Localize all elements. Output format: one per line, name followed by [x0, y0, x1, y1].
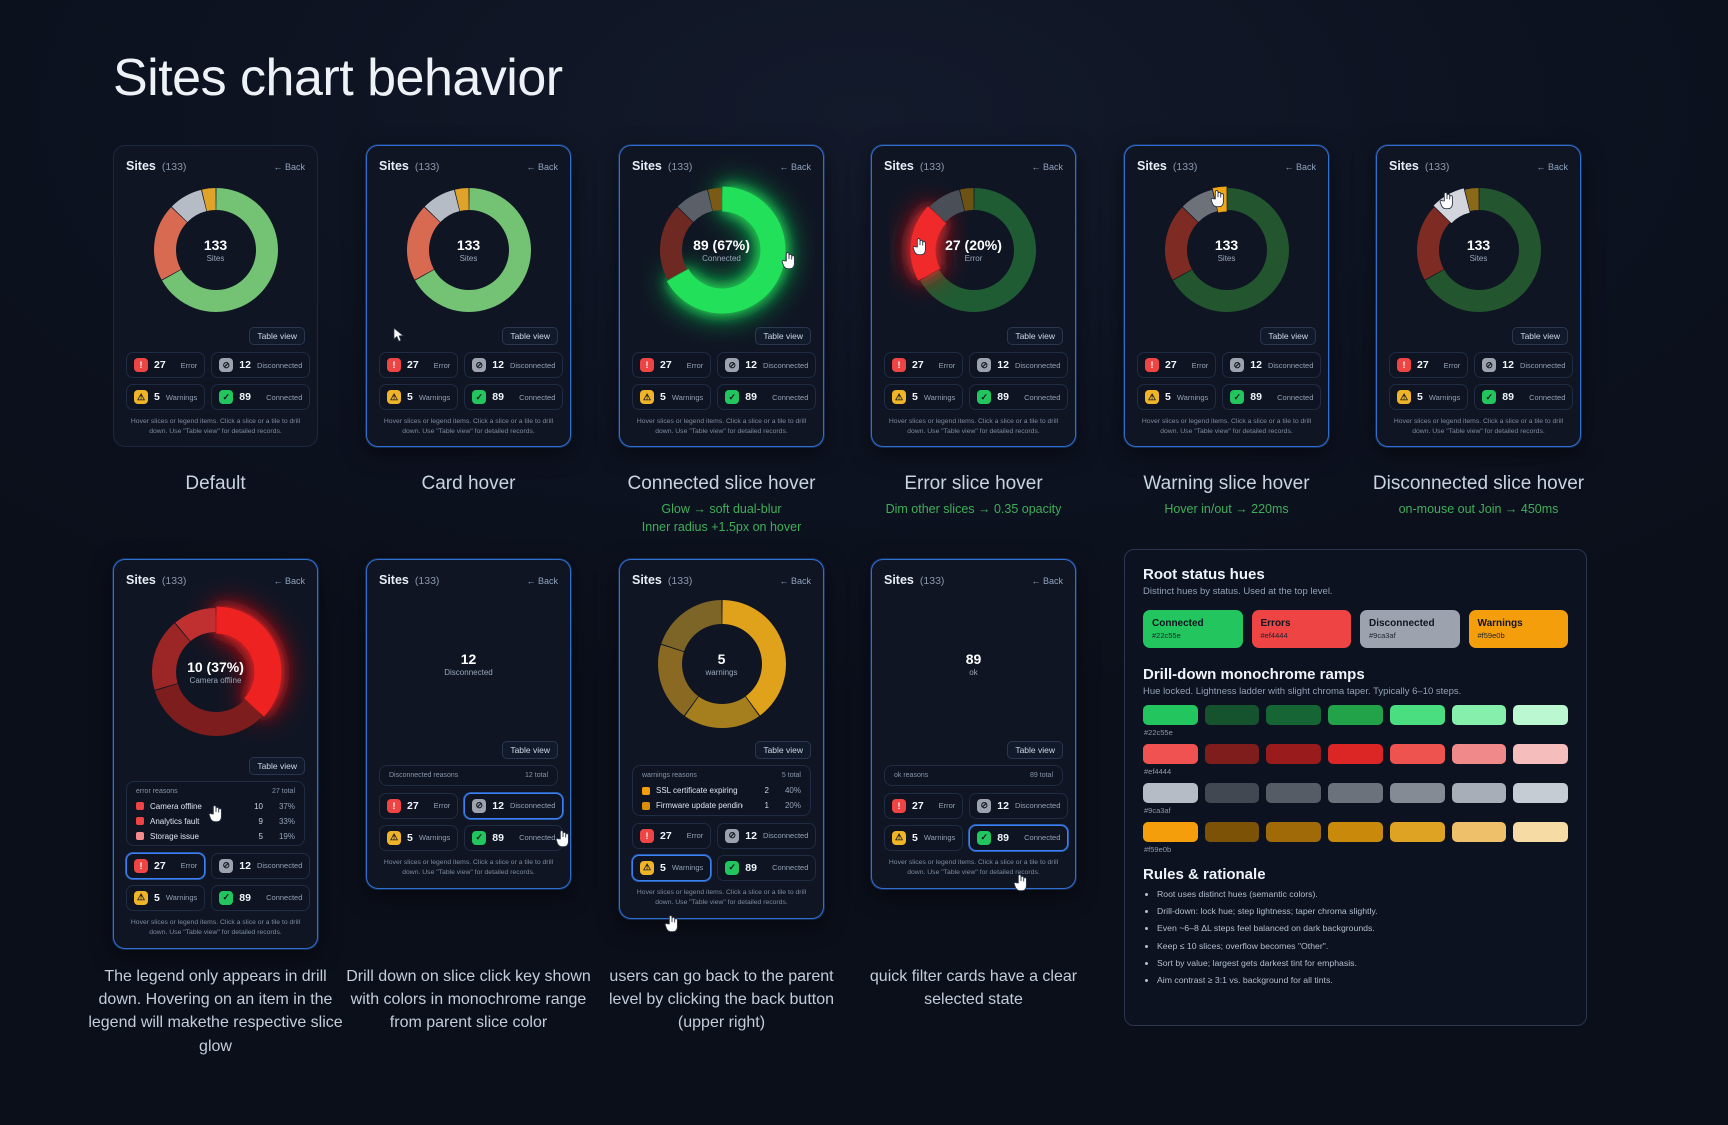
quick-filter-tile-warnings[interactable]: ⚠ 5 Warnings — [884, 384, 963, 410]
ramp-step — [1390, 744, 1445, 764]
donut-svg-wrap[interactable]: 133 Sites — [1152, 175, 1302, 325]
card-header: Sites(133) ← Back — [1137, 157, 1316, 175]
tile-count: 89 — [997, 391, 1009, 403]
drilldown-caption-error-drilldown: The legend only appears in drill down. H… — [88, 965, 343, 1058]
rule-item: Even ~6–8 ΔL steps feel balanced on dark… — [1157, 922, 1568, 934]
table-view-button[interactable]: Table view — [502, 741, 558, 759]
quick-filter-tile-warnings[interactable]: ⚠ 5 Warnings — [884, 825, 963, 851]
table-view-button[interactable]: Table view — [1007, 327, 1063, 345]
donut-svg-wrap[interactable]: 12 Disconnected — [394, 589, 544, 739]
legend-item[interactable]: Network issue 12 100% — [386, 783, 551, 786]
legend-item[interactable]: Normal 89 100% — [891, 783, 1056, 786]
quick-filter-tile-warnings[interactable]: ⚠ 5 Warnings — [126, 384, 205, 410]
warning-icon: ⚠ — [134, 390, 148, 404]
tile-label: Disconnected — [257, 861, 302, 870]
card-caption-default: Default — [73, 472, 358, 496]
tile-label: Warnings — [166, 393, 197, 402]
caption-text: Drill down on slice click key shown with… — [346, 968, 591, 1031]
quick-filter-tiles: ! 27 Error ⊘ 12 Disconnected ⚠ 5 Warning… — [632, 352, 811, 410]
quick-filter-tile-warnings[interactable]: ⚠ 5 Warnings — [126, 885, 205, 911]
donut-svg-wrap[interactable]: 133 Sites — [141, 175, 291, 325]
back-button[interactable]: ← Back — [273, 162, 305, 172]
tile-count: 12 — [492, 359, 504, 371]
tile-count: 12 — [745, 359, 757, 371]
tile-count: 89 — [745, 391, 757, 403]
card-title-group: Sites(133) — [126, 157, 186, 175]
ramp-step — [1390, 822, 1445, 842]
quick-filter-tile-warnings[interactable]: ⚠ 5 Warnings — [1389, 384, 1468, 410]
caption-text: Warning slice hover — [1143, 473, 1309, 494]
back-button[interactable]: ← Back — [779, 162, 811, 172]
connected-icon: ✓ — [977, 831, 991, 845]
card-title: Sites — [379, 573, 409, 587]
drilldown-caption-ok-drilldown: quick filter cards have a clear selected… — [846, 965, 1101, 1011]
tile-label: Warnings — [1177, 393, 1208, 402]
quick-filter-tile-disconnected[interactable]: ⊘ 12 Disconnected — [969, 793, 1068, 819]
tile-count: 12 — [997, 359, 1009, 371]
tile-count: 89 — [492, 391, 504, 403]
tile-label: Disconnected — [1520, 361, 1565, 370]
ramp-row — [1143, 705, 1568, 725]
table-view-button[interactable]: Table view — [755, 741, 811, 759]
legend-name: Storage issue — [150, 832, 237, 841]
legend-item[interactable]: Camera offline 10 37% — [133, 799, 298, 814]
tile-label: Warnings — [924, 833, 955, 842]
quick-filter-tile-disconnected[interactable]: ⊘ 12 Disconnected — [1474, 352, 1573, 378]
card-hint: Hover slices or legend items. Click a sl… — [1389, 417, 1568, 437]
tile-label: Warnings — [419, 393, 450, 402]
quick-filter-tile-connected[interactable]: ✓ 89 Connected — [211, 885, 310, 911]
tile-count: 5 — [407, 391, 413, 403]
quick-filter-tile-disconnected[interactable]: ⊘ 12 Disconnected — [717, 352, 816, 378]
connected-icon: ✓ — [1230, 390, 1244, 404]
table-view-row: Table view — [379, 741, 558, 759]
legend-swatch — [136, 832, 144, 840]
card-caption-note: on-mouse out Join → 450ms — [1336, 500, 1621, 518]
quick-filter-tile-connected[interactable]: ✓ 89 Connected — [717, 384, 816, 410]
tile-count: 27 — [154, 860, 166, 872]
caption-text: users can go back to the parent level by… — [609, 968, 834, 1031]
back-button[interactable]: ← Back — [1031, 576, 1063, 586]
card-hint: Hover slices or legend items. Click a sl… — [884, 858, 1063, 878]
tile-label: Disconnected — [1015, 361, 1060, 370]
ramp-step — [1328, 744, 1383, 764]
ramp-step — [1143, 744, 1198, 764]
tile-count: 27 — [407, 359, 419, 371]
donut-chart[interactable]: 133 Sites — [1389, 175, 1568, 325]
card-title-group: Sites(133) — [1389, 157, 1449, 175]
sites-card-ok-drilldown[interactable]: Sites(133) ← Back 89 ok Table view ok re… — [871, 559, 1076, 889]
card-title: Sites — [379, 159, 409, 173]
card-hint: Hover slices or legend items. Click a sl… — [884, 417, 1063, 437]
connected-icon: ✓ — [725, 390, 739, 404]
tile-count: 5 — [407, 832, 413, 844]
legend-item[interactable]: SSL certificate expiring 2 40% — [639, 783, 804, 798]
legend-percent: 33% — [269, 817, 295, 826]
error-icon: ! — [134, 859, 148, 873]
quick-filter-tiles: ! 27 Error ⊘ 12 Disconnected ⚠ 5 Warning… — [1389, 352, 1568, 410]
legend-title: error reasons — [136, 788, 178, 795]
legend-percent: 40% — [775, 786, 801, 795]
donut-svg-wrap[interactable]: 133 Sites — [394, 175, 544, 325]
tile-count: 27 — [912, 359, 924, 371]
tile-count: 27 — [154, 359, 166, 371]
root-hues-sub: Distinct hues by status. Used at the top… — [1143, 586, 1568, 597]
connected-icon: ✓ — [977, 390, 991, 404]
quick-filter-tile-error[interactable]: ! 27 Error — [126, 352, 205, 378]
tile-label: Connected — [772, 863, 808, 872]
drilldown-legend: warnings reasons 5 total SSL certificate… — [632, 765, 811, 816]
donut-chart[interactable]: 133 Sites — [126, 175, 305, 325]
legend-swatch — [136, 817, 144, 825]
legend-header: Disconnected reasons 12 total — [386, 771, 551, 783]
tile-count: 27 — [912, 800, 924, 812]
sites-card-default[interactable]: Sites(133) ← Back 133 Sites Table view !… — [113, 145, 318, 447]
donut-svg-wrap[interactable]: 27 (20%) Error — [899, 175, 1049, 325]
back-button[interactable]: ← Back — [779, 576, 811, 586]
tile-count: 27 — [1165, 359, 1177, 371]
quick-filter-tile-error[interactable]: ! 27 Error — [379, 352, 458, 378]
tile-label: Error — [939, 361, 956, 370]
quick-filter-tile-connected[interactable]: ✓ 89 Connected — [969, 825, 1068, 851]
card-hint: Hover slices or legend items. Click a sl… — [126, 918, 305, 938]
quick-filter-tiles: ! 27 Error ⊘ 12 Disconnected ⚠ 5 Warning… — [379, 352, 558, 410]
legend-swatch — [642, 787, 650, 795]
card-title: Sites — [632, 573, 662, 587]
tile-count: 89 — [1250, 391, 1262, 403]
quick-filter-tile-disconnected[interactable]: ⊘ 12 Disconnected — [969, 352, 1068, 378]
ramp-step — [1143, 783, 1198, 803]
legend-header: ok reasons 89 total — [891, 771, 1056, 783]
table-view-button[interactable]: Table view — [502, 327, 558, 345]
sites-card-warning-slice-hover[interactable]: Sites(133) ← Back 133 Sites Table view !… — [1124, 145, 1329, 447]
donut-chart[interactable]: 89 (67%) Connected — [632, 175, 811, 325]
tile-count: 89 — [997, 832, 1009, 844]
card-title: Sites — [126, 573, 156, 587]
warning-icon: ⚠ — [387, 390, 401, 404]
table-view-button[interactable]: Table view — [249, 757, 305, 775]
tile-label: Connected — [519, 393, 555, 402]
tile-label: Error — [434, 801, 451, 810]
connected-icon: ✓ — [219, 390, 233, 404]
warning-icon: ⚠ — [640, 390, 654, 404]
card-header: Sites(133) ← Back — [632, 571, 811, 589]
quick-filter-tile-error[interactable]: ! 27 Error — [126, 853, 205, 879]
disconnected-icon: ⊘ — [219, 859, 233, 873]
quick-filter-tiles: ! 27 Error ⊘ 12 Disconnected ⚠ 5 Warning… — [1137, 352, 1316, 410]
warning-icon: ⚠ — [1145, 390, 1159, 404]
legend-item[interactable]: Storage issue 5 19% — [133, 829, 298, 844]
ramp-step — [1205, 744, 1260, 764]
tile-count: 12 — [997, 800, 1009, 812]
quick-filter-tile-error[interactable]: ! 27 Error — [884, 793, 963, 819]
error-icon: ! — [892, 358, 906, 372]
legend-total: 89 total — [1030, 772, 1053, 779]
tile-count: 89 — [239, 892, 251, 904]
donut-svg-wrap[interactable]: 5 warnings — [647, 589, 797, 739]
ramp-step — [1513, 822, 1568, 842]
disconnected-icon: ⊘ — [977, 358, 991, 372]
quick-filter-tile-disconnected[interactable]: ⊘ 12 Disconnected — [211, 853, 310, 879]
tile-count: 89 — [745, 862, 757, 874]
back-button[interactable]: ← Back — [526, 576, 558, 586]
tile-count: 12 — [239, 860, 251, 872]
tile-count: 12 — [492, 800, 504, 812]
table-view-row: Table view — [1137, 327, 1316, 345]
sites-card-disconnected-slice-hover[interactable]: Sites(133) ← Back 133 Sites Table view !… — [1376, 145, 1581, 447]
tile-label: Connected — [1024, 833, 1060, 842]
card-title-group: Sites(133) — [1137, 157, 1197, 175]
swatch-label: Connected — [1152, 618, 1234, 629]
card-title-group: Sites(133) — [126, 571, 186, 589]
card-title-group: Sites(133) — [632, 157, 692, 175]
quick-filter-tile-warnings[interactable]: ⚠ 5 Warnings — [379, 384, 458, 410]
ramp-step — [1205, 822, 1260, 842]
card-count: (133) — [668, 575, 693, 587]
tile-label: Error — [1444, 361, 1461, 370]
tile-count: 27 — [660, 359, 672, 371]
caption-text: The legend only appears in drill down. H… — [88, 968, 342, 1055]
card-caption-note: Hover in/out → 220ms — [1084, 500, 1369, 518]
card-title: Sites — [1137, 159, 1167, 173]
card-header: Sites(133) ← Back — [379, 571, 558, 589]
back-button[interactable]: ← Back — [526, 162, 558, 172]
ramp-code: #9ca3af — [1144, 806, 1568, 815]
legend-name: Camera offline — [150, 802, 237, 811]
legend-total: 5 total — [782, 772, 801, 779]
card-title-group: Sites(133) — [884, 157, 944, 175]
tile-label: Warnings — [166, 893, 197, 902]
tile-label: Error — [181, 361, 198, 370]
quick-filter-tile-connected[interactable]: ✓ 89 Connected — [1222, 384, 1321, 410]
donut-svg-wrap[interactable]: 89 ok — [899, 589, 1049, 739]
sites-card-error-slice-hover[interactable]: Sites(133) ← Back 27 (20%) Error Table v… — [871, 145, 1076, 447]
legend-title: Disconnected reasons — [389, 772, 458, 779]
rules-title: Rules & rationale — [1143, 866, 1568, 883]
table-view-button[interactable]: Table view — [249, 327, 305, 345]
error-icon: ! — [640, 829, 654, 843]
root-hues-title: Root status hues — [1143, 566, 1568, 583]
tile-count: 12 — [239, 359, 251, 371]
card-caption-disconnected-slice-hover: Disconnected slice hoveron-mouse out Joi… — [1336, 472, 1621, 518]
quick-filter-tile-connected[interactable]: ✓ 89 Connected — [464, 825, 563, 851]
ramp-step — [1452, 822, 1507, 842]
tile-label: Connected — [266, 393, 302, 402]
tile-label: Connected — [772, 393, 808, 402]
card-caption-connected-slice-hover: Connected slice hoverGlow → soft dual-bl… — [579, 472, 864, 536]
tile-count: 27 — [1417, 359, 1429, 371]
quick-filter-tile-connected[interactable]: ✓ 89 Connected — [969, 384, 1068, 410]
tile-count: 5 — [660, 862, 666, 874]
quick-filter-tile-warnings[interactable]: ⚠ 5 Warnings — [632, 855, 711, 881]
card-count: (133) — [162, 161, 187, 173]
card-header: Sites(133) ← Back — [126, 157, 305, 175]
legend-header: warnings reasons 5 total — [639, 771, 804, 783]
card-title: Sites — [126, 159, 156, 173]
ramps-sub: Hue locked. Lightness ladder with slight… — [1143, 686, 1568, 697]
card-title-group: Sites(133) — [379, 571, 439, 589]
quick-filter-tile-connected[interactable]: ✓ 89 Connected — [464, 384, 563, 410]
tile-label: Disconnected — [763, 361, 808, 370]
tile-label: Disconnected — [257, 361, 302, 370]
quick-filter-tile-disconnected[interactable]: ⊘ 12 Disconnected — [464, 793, 563, 819]
quick-filter-tile-connected[interactable]: ✓ 89 Connected — [211, 384, 310, 410]
card-hint: Hover slices or legend items. Click a sl… — [379, 858, 558, 878]
ramp-step — [1390, 705, 1445, 725]
table-view-button[interactable]: Table view — [755, 327, 811, 345]
tile-label: Disconnected — [1268, 361, 1313, 370]
legend-item[interactable]: Firmware update pending 1 20% — [639, 798, 804, 813]
warning-icon: ⚠ — [892, 390, 906, 404]
quick-filter-tile-warnings[interactable]: ⚠ 5 Warnings — [632, 384, 711, 410]
ramp-step — [1266, 744, 1321, 764]
connected-icon: ✓ — [472, 390, 486, 404]
card-hint: Hover slices or legend items. Click a sl… — [379, 417, 558, 437]
quick-filter-tile-connected[interactable]: ✓ 89 Connected — [1474, 384, 1573, 410]
swatch-connected: Connected #22c55e — [1143, 610, 1243, 648]
tile-label: Connected — [1024, 393, 1060, 402]
quick-filter-tile-warnings[interactable]: ⚠ 5 Warnings — [1137, 384, 1216, 410]
back-button[interactable]: ← Back — [1536, 162, 1568, 172]
drilldown-legend: ok reasons 89 total Normal 89 100% — [884, 765, 1063, 786]
legend-item[interactable]: Analytics fault 9 33% — [133, 814, 298, 829]
ramp-step — [1328, 822, 1383, 842]
quick-filter-tile-connected[interactable]: ✓ 89 Connected — [717, 855, 816, 881]
quick-filter-tile-disconnected[interactable]: ⊘ 12 Disconnected — [464, 352, 563, 378]
sites-card-connected-slice-hover[interactable]: Sites(133) ← Back 89 (67%) Connected Tab… — [619, 145, 824, 447]
quick-filter-tile-error[interactable]: ! 27 Error — [379, 793, 458, 819]
card-hint: Hover slices or legend items. Click a sl… — [126, 417, 305, 437]
legend-name: SSL certificate expiring — [656, 786, 743, 795]
card-header: Sites(133) ← Back — [884, 571, 1063, 589]
donut-svg-wrap[interactable]: 89 (67%) Connected — [647, 175, 797, 325]
tile-label: Warnings — [1429, 393, 1460, 402]
quick-filter-tile-error[interactable]: ! 27 Error — [1389, 352, 1468, 378]
tile-count: 5 — [154, 391, 160, 403]
tile-count: 5 — [154, 892, 160, 904]
donut-chart[interactable]: 27 (20%) Error — [884, 175, 1063, 325]
tile-label: Disconnected — [763, 831, 808, 840]
ramp-step — [1452, 744, 1507, 764]
donut-chart[interactable]: 133 Sites — [379, 175, 558, 325]
ramp-row — [1143, 783, 1568, 803]
card-caption-error-slice-hover: Error slice hoverDim other slices → 0.35… — [831, 472, 1116, 518]
sites-card-card-hover[interactable]: Sites(133) ← Back 133 Sites Table view !… — [366, 145, 571, 447]
caption-text: quick filter cards have a clear selected… — [870, 968, 1077, 1008]
rule-item: Aim contrast ≥ 3:1 vs. background for al… — [1157, 974, 1568, 986]
tile-count: 12 — [1502, 359, 1514, 371]
legend-total: 12 total — [525, 772, 548, 779]
swatch-label: Warnings — [1478, 618, 1560, 629]
card-hint: Hover slices or legend items. Click a sl… — [632, 888, 811, 908]
table-view-row: Table view — [1389, 327, 1568, 345]
table-view-button[interactable]: Table view — [1007, 741, 1063, 759]
connected-icon: ✓ — [1482, 390, 1496, 404]
card-header: Sites(133) ← Back — [1389, 157, 1568, 175]
quick-filter-tile-error[interactable]: ! 27 Error — [1137, 352, 1216, 378]
legend-total: 27 total — [272, 788, 295, 795]
quick-filter-tile-warnings[interactable]: ⚠ 5 Warnings — [379, 825, 458, 851]
sites-card-disconnected-drilldown[interactable]: Sites(133) ← Back 12 Disconnected Table … — [366, 559, 571, 889]
disconnected-icon: ⊘ — [725, 829, 739, 843]
quick-filter-tile-error[interactable]: ! 27 Error — [632, 823, 711, 849]
legend-count: 10 — [243, 802, 263, 811]
disconnected-icon: ⊘ — [1482, 358, 1496, 372]
ramps: #22c55e#ef4444#9ca3af#f59e0b — [1143, 705, 1568, 854]
warning-icon: ⚠ — [387, 831, 401, 845]
root-swatches: Connected #22c55e Errors #ef4444 Disconn… — [1143, 610, 1568, 648]
tile-label: Error — [687, 361, 704, 370]
back-button[interactable]: ← Back — [273, 576, 305, 586]
ramp-step — [1452, 705, 1507, 725]
back-button[interactable]: ← Back — [1284, 162, 1316, 172]
ramp-code: #ef4444 — [1144, 767, 1568, 776]
donut-chart[interactable]: 133 Sites — [1137, 175, 1316, 325]
legend-name: Firmware update pending — [656, 801, 743, 810]
tile-label: Connected — [266, 893, 302, 902]
warning-icon: ⚠ — [1397, 390, 1411, 404]
card-hint: Hover slices or legend items. Click a sl… — [632, 417, 811, 437]
legend-title: ok reasons — [894, 772, 928, 779]
quick-filter-tile-disconnected[interactable]: ⊘ 12 Disconnected — [211, 352, 310, 378]
card-header: Sites(133) ← Back — [884, 157, 1063, 175]
card-header: Sites(133) ← Back — [126, 571, 305, 589]
caption-text: Default — [185, 473, 245, 494]
error-icon: ! — [1145, 358, 1159, 372]
card-caption-warning-slice-hover: Warning slice hoverHover in/out → 220ms — [1084, 472, 1369, 518]
warning-icon: ⚠ — [640, 861, 654, 875]
sites-card-error-drilldown[interactable]: Sites(133) ← Back 10 (37%) Camera offlin… — [113, 559, 318, 949]
donut-svg-wrap[interactable]: 10 (37%) Camera offline — [141, 597, 291, 747]
legend-swatch — [642, 802, 650, 810]
tile-label: Connected — [1277, 393, 1313, 402]
tile-label: Connected — [519, 833, 555, 842]
tile-label: Error — [1192, 361, 1209, 370]
ramp-code: #f59e0b — [1144, 845, 1568, 854]
quick-filter-tile-disconnected[interactable]: ⊘ 12 Disconnected — [1222, 352, 1321, 378]
disconnected-icon: ⊘ — [725, 358, 739, 372]
caption-text: Card hover — [422, 473, 516, 494]
legend-item[interactable]: Configuration drift 1 20% — [639, 813, 804, 816]
quick-filter-tile-error[interactable]: ! 27 Error — [632, 352, 711, 378]
quick-filter-tile-disconnected[interactable]: ⊘ 12 Disconnected — [717, 823, 816, 849]
tile-count: 5 — [660, 391, 666, 403]
ramp-step — [1205, 783, 1260, 803]
ramp-step — [1390, 783, 1445, 803]
tile-label: Disconnected — [1015, 801, 1060, 810]
donut-chart[interactable]: 10 (37%) Camera offline — [126, 589, 305, 755]
quick-filter-tiles: ! 27 Error ⊘ 12 Disconnected ⚠ 5 Warning… — [126, 352, 305, 410]
error-icon: ! — [892, 799, 906, 813]
donut-chart[interactable]: 5 warnings — [632, 589, 811, 739]
back-button[interactable]: ← Back — [1031, 162, 1063, 172]
ramp-code: #22c55e — [1144, 728, 1568, 737]
table-view-button[interactable]: Table view — [1512, 327, 1568, 345]
card-count: (133) — [1173, 161, 1198, 173]
table-view-row: Table view — [632, 327, 811, 345]
table-view-button[interactable]: Table view — [1260, 327, 1316, 345]
tile-label: Connected — [1529, 393, 1565, 402]
card-title: Sites — [884, 159, 914, 173]
tile-count: 27 — [660, 830, 672, 842]
donut-svg-wrap[interactable]: 133 Sites — [1404, 175, 1554, 325]
donut-chart[interactable]: 89 ok — [884, 589, 1063, 739]
donut-chart[interactable]: 12 Disconnected — [379, 589, 558, 739]
quick-filter-tile-error[interactable]: ! 27 Error — [884, 352, 963, 378]
sites-card-warnings-drilldown[interactable]: Sites(133) ← Back 5 warnings Table view … — [619, 559, 824, 919]
rule-item: Drill-down: lock hue; step lightness; ta… — [1157, 905, 1568, 917]
disconnected-icon: ⊘ — [472, 799, 486, 813]
